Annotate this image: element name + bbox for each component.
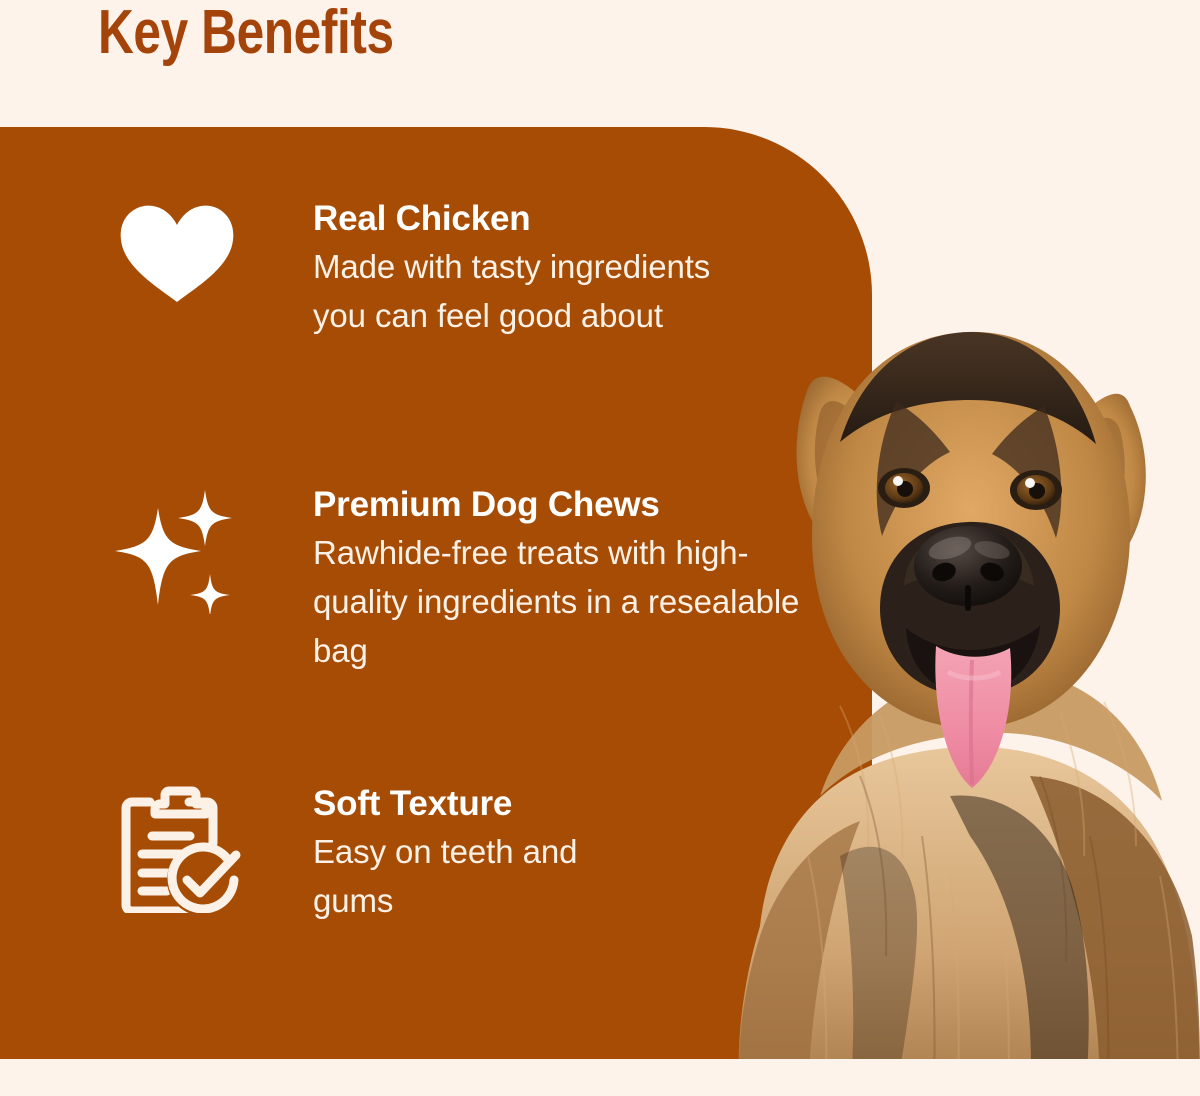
clipboard-check-icon xyxy=(112,783,242,913)
bottom-strip xyxy=(0,1059,1200,1096)
benefit-heading: Real Chicken xyxy=(313,198,738,240)
benefit-text-block: Real Chicken Made with tasty ingredients… xyxy=(313,198,738,340)
benefit-heading: Soft Texture xyxy=(313,783,643,825)
page-title: Key Benefits xyxy=(98,0,394,68)
benefit-body: Made with tasty ingredients you can feel… xyxy=(313,242,738,340)
dog-photo xyxy=(700,236,1200,1096)
benefit-text-block: Soft Texture Easy on teeth and gums xyxy=(313,783,643,925)
sparkles-icon xyxy=(112,484,242,614)
benefit-body: Easy on teeth and gums xyxy=(313,827,643,925)
heart-icon xyxy=(112,198,242,328)
infographic-canvas: Key Benefits Real Chicken Made with tast… xyxy=(0,0,1200,1096)
